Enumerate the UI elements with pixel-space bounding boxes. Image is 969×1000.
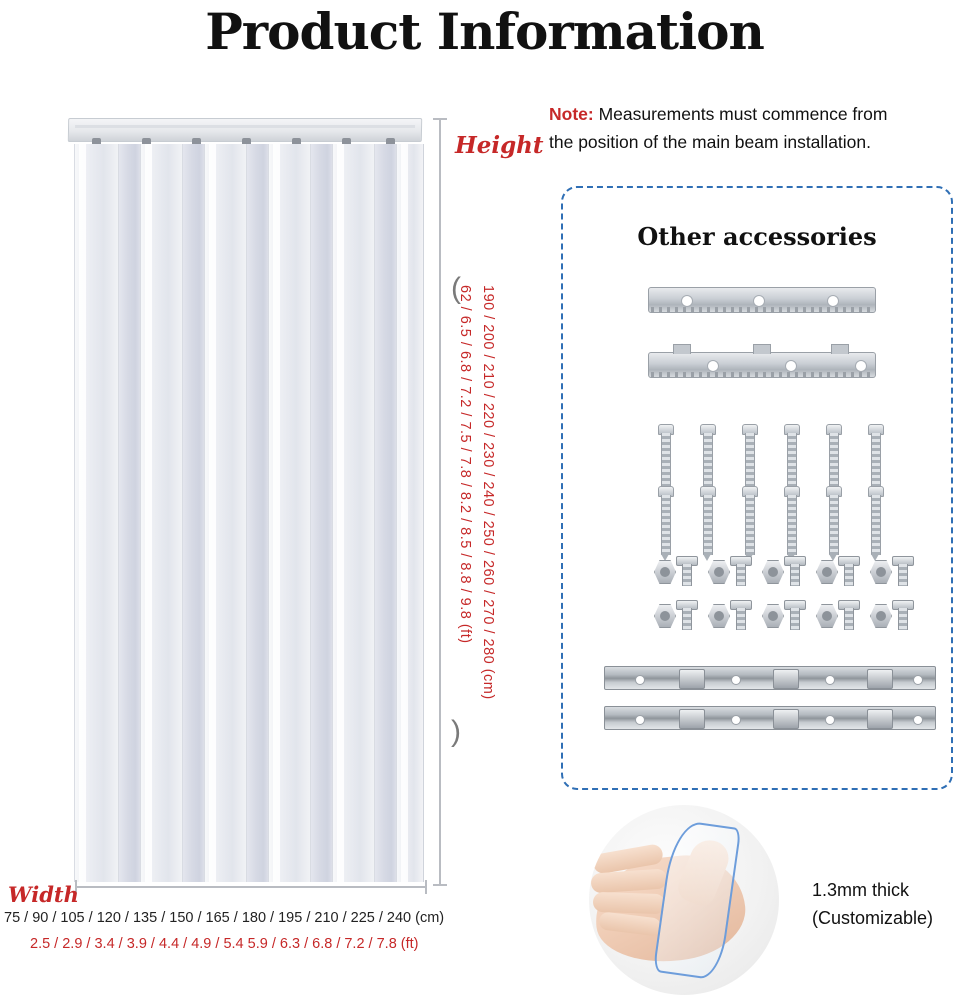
- screw: [658, 486, 672, 560]
- thickness-line-1: 1.3mm thick: [812, 876, 969, 904]
- screw: [742, 486, 756, 560]
- bolt-and-nut: [708, 556, 750, 586]
- height-values-cm: 190 / 200 / 210 / 220 / 230 / 240 / 250 …: [472, 285, 496, 700]
- height-label: Height: [455, 132, 544, 159]
- height-dimension-bracket: [433, 118, 447, 886]
- curtain-strip: [310, 144, 334, 882]
- hand-holding-strip-photo: [589, 805, 779, 995]
- bolt-and-nut: [816, 556, 858, 586]
- page-title: Product Information: [0, 0, 969, 64]
- width-dimension-bracket: [75, 880, 427, 894]
- curtain-strip: [246, 144, 270, 882]
- thickness-line-2: (Customizable): [812, 904, 969, 932]
- screw: [868, 486, 882, 560]
- width-values-ft: 2.5 / 2.9 / 3.4 / 3.9 / 4.4 / 4.9 / 5.4 …: [30, 936, 500, 952]
- curtain-strip: [374, 144, 398, 882]
- installation-note: Note: Measurements must commence from th…: [549, 100, 969, 156]
- hinge-rail-2: [604, 706, 936, 730]
- bolt-and-nut: [654, 600, 696, 630]
- screw: [826, 486, 840, 560]
- curtain-strip: [396, 144, 424, 882]
- bolt-and-nut: [816, 600, 858, 630]
- mounting-plate-bottom: [648, 352, 876, 378]
- mounting-plate-top: [648, 287, 876, 313]
- bolt-and-nut: [708, 600, 750, 630]
- curtain-strip: [332, 144, 376, 882]
- curtain-strips: [74, 144, 422, 882]
- height-paren-close: ): [451, 715, 461, 749]
- pvc-curtain-illustration: [68, 118, 428, 886]
- curtain-strip: [204, 144, 248, 882]
- bolt-and-nut: [654, 556, 696, 586]
- bolt-and-nut: [762, 556, 804, 586]
- curtain-strip: [74, 144, 120, 882]
- hinge-rail-1: [604, 666, 936, 690]
- thickness-caption: 1.3mm thick (Customizable): [812, 876, 969, 932]
- screw: [784, 486, 798, 560]
- finger: [593, 892, 666, 915]
- bolt-and-nut: [870, 600, 912, 630]
- bolt-and-nut: [870, 556, 912, 586]
- curtain-strip: [182, 144, 206, 882]
- curtain-strip: [140, 144, 184, 882]
- pvc-strip-sample: [653, 819, 742, 981]
- width-values-cm: 75 / 90 / 105 / 120 / 135 / 150 / 165 / …: [4, 910, 474, 926]
- height-values-ft: 62 / 6.5 / 6.8 / 7.2 / 7.5 / 7.8 / 8.2 /…: [449, 285, 473, 644]
- curtain-strip: [118, 144, 142, 882]
- screw: [700, 486, 714, 560]
- note-line-1: Measurements must commence from: [594, 104, 888, 124]
- curtain-strip: [268, 144, 312, 882]
- bolt-and-nut: [762, 600, 804, 630]
- note-label: Note:: [549, 104, 594, 124]
- width-label: Width: [8, 882, 79, 907]
- accessories-title: Other accessories: [561, 222, 953, 251]
- note-line-2: the position of the main beam installati…: [549, 132, 871, 152]
